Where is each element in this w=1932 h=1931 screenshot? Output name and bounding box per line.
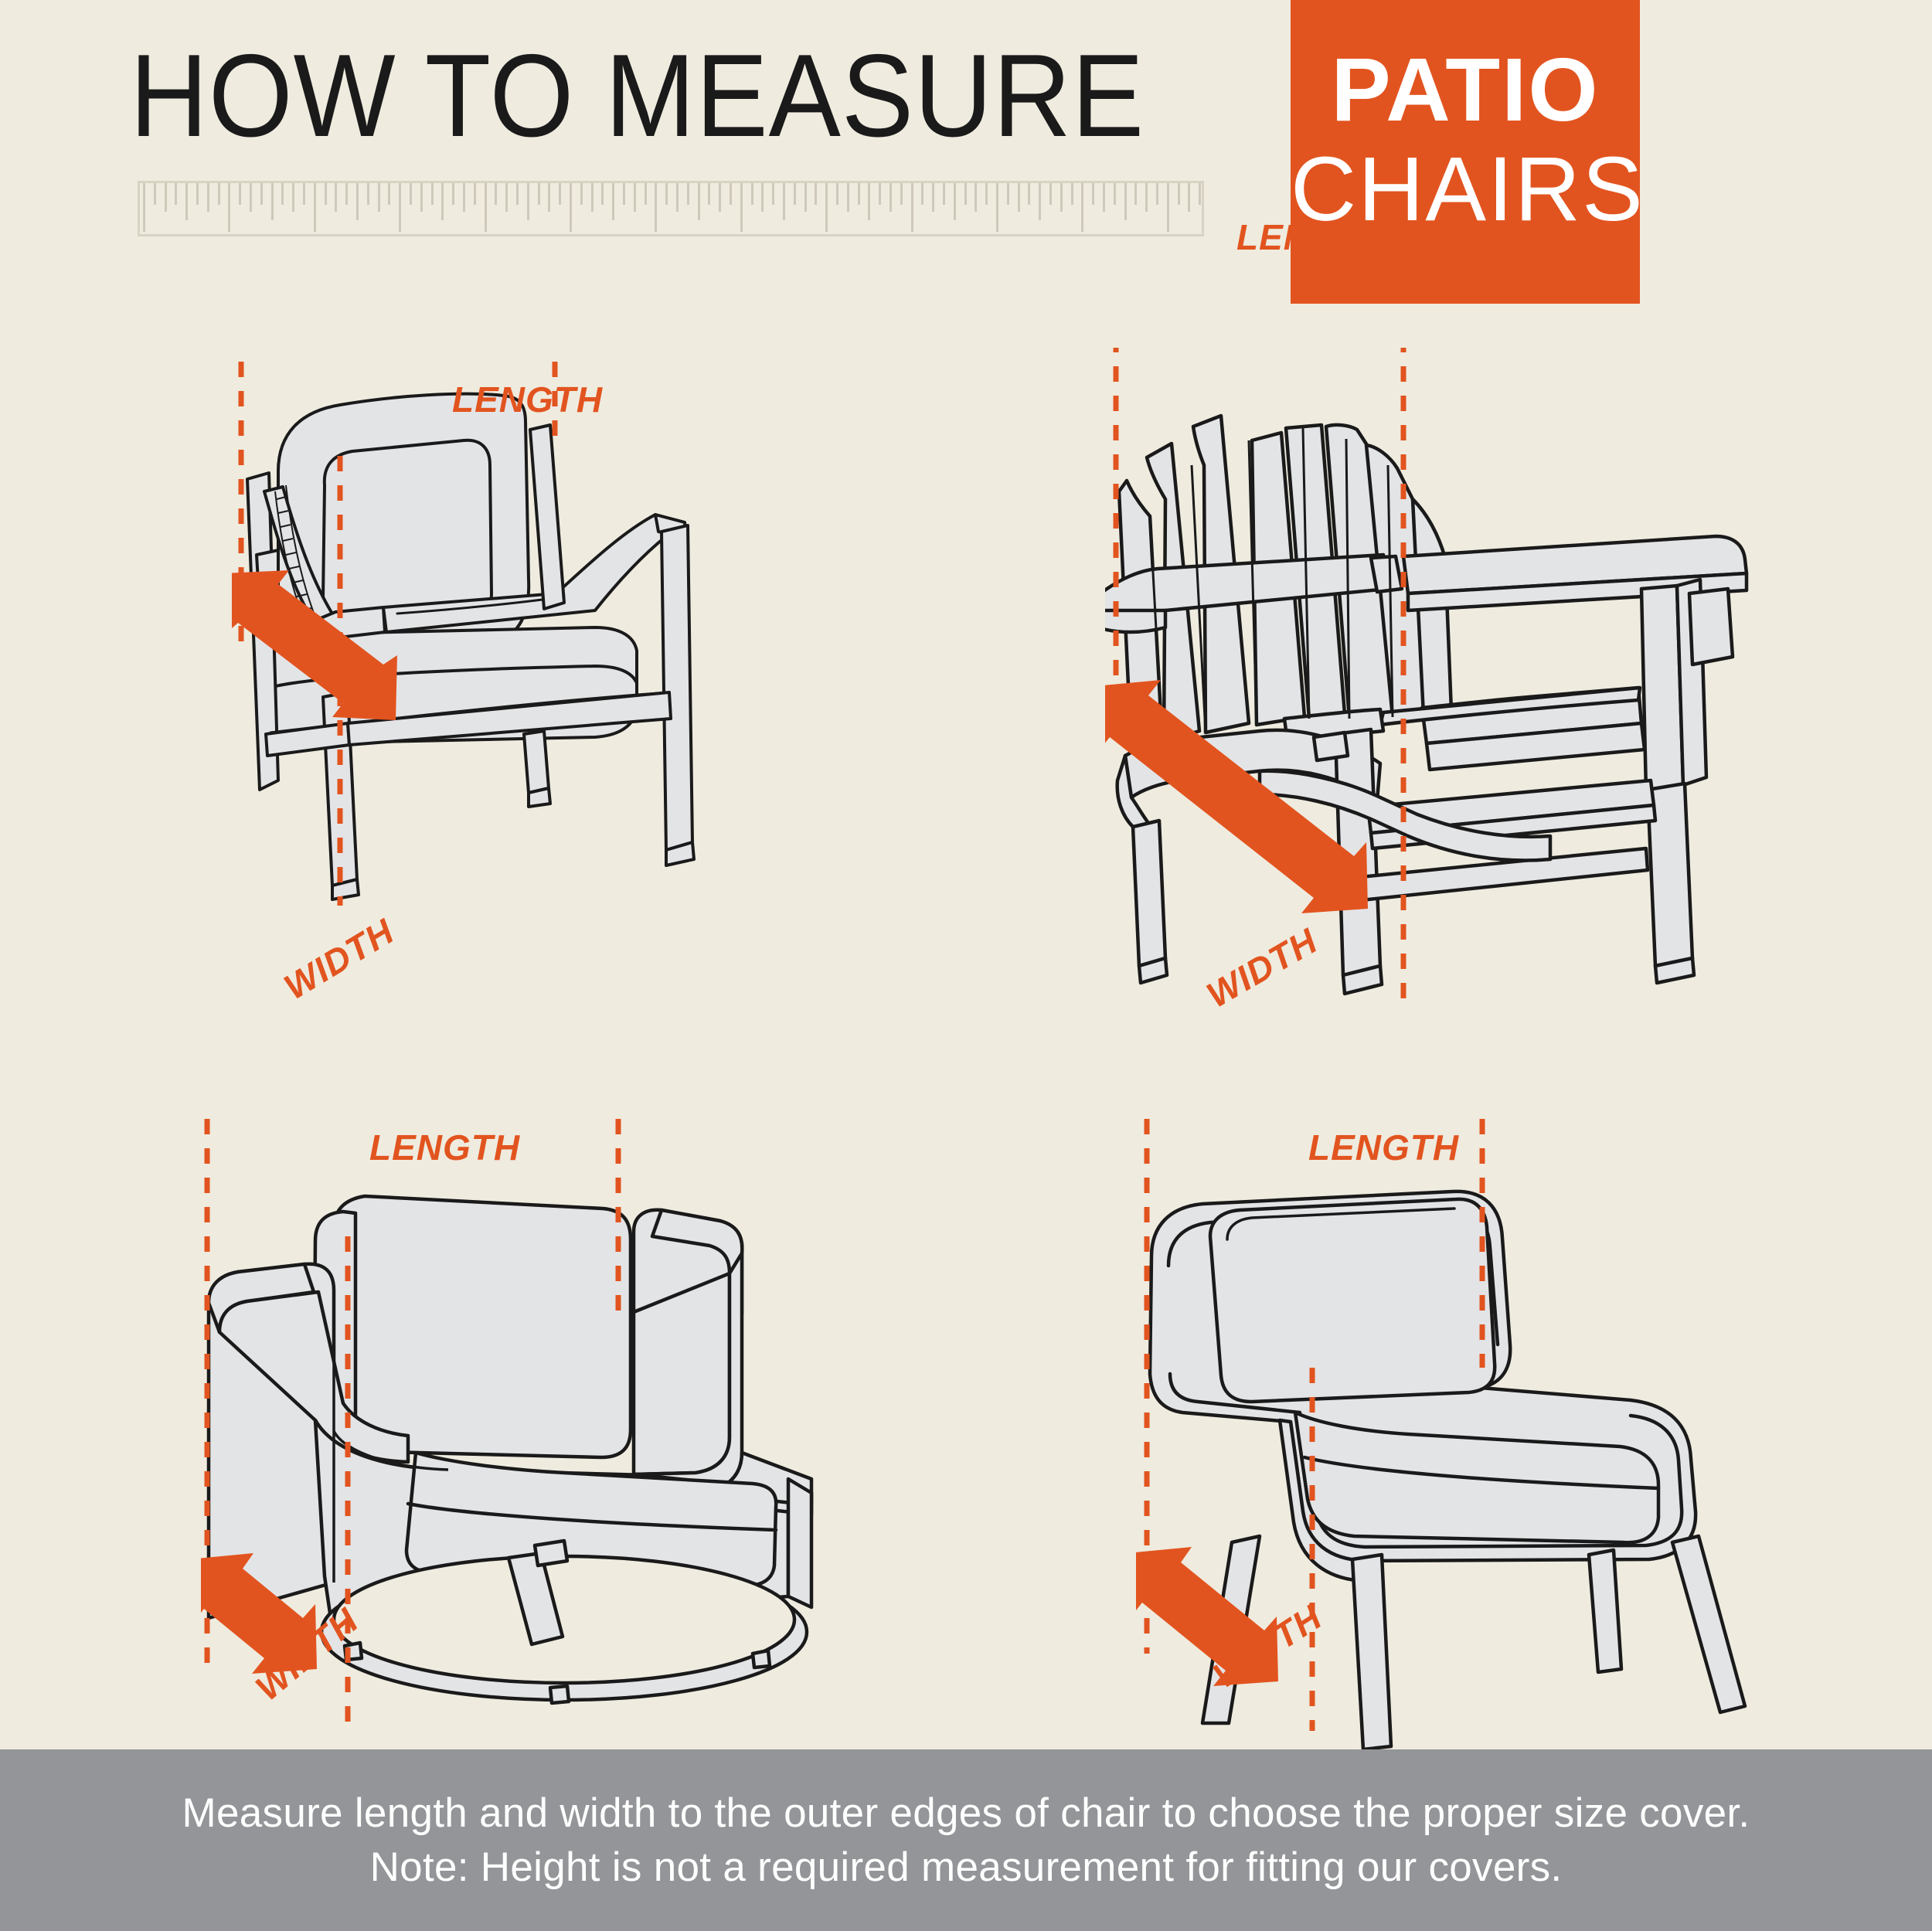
ruler-tick: [730, 183, 732, 205]
ruler-tick: [794, 183, 796, 205]
ruler-tick: [420, 183, 423, 212]
ruler-tick: [868, 183, 870, 220]
infographic-canvas: HOW TO MEASURE PATIO CHAIRS: [0, 0, 1932, 1931]
ruler-tick: [485, 183, 487, 232]
length-label-4: LENGTH: [1308, 1127, 1459, 1168]
ruler-tick: [1007, 183, 1009, 205]
footer-line-2: Note: Height is not a required measureme…: [0, 1841, 1932, 1895]
ruler-tick: [559, 183, 561, 205]
ruler-tick: [527, 183, 529, 220]
ruler-tick: [345, 183, 348, 205]
ruler-tick: [964, 183, 967, 205]
ruler-tick: [335, 183, 337, 212]
ruler-tick: [1156, 183, 1158, 205]
ruler-tick: [623, 183, 625, 205]
ruler-tick: [751, 183, 753, 205]
ruler-tick: [580, 183, 583, 205]
ruler-tick: [783, 183, 785, 220]
ruler-tick: [698, 183, 700, 220]
ruler-tick: [836, 183, 838, 205]
ruler-tick: [516, 183, 519, 205]
ruler-tick: [921, 183, 923, 205]
ruler-tick: [1092, 183, 1094, 205]
ruler-tick: [1049, 183, 1052, 205]
ruler-tick: [1178, 183, 1180, 205]
ruler-tick: [847, 183, 849, 212]
ruler-tick: [196, 183, 199, 205]
ruler-tick: [665, 183, 668, 205]
ruler-tick: [538, 183, 540, 205]
ruler-tick: [996, 183, 998, 232]
ruler-tick: [879, 183, 881, 205]
ruler-tick: [388, 183, 390, 205]
ruler-tick: [378, 183, 380, 212]
ruler-tick: [591, 183, 594, 212]
length-label-1: LENGTH: [452, 379, 603, 420]
ruler-tick: [165, 183, 167, 212]
width-arrow-1: [232, 570, 397, 720]
ruler-tick: [1134, 183, 1137, 205]
ruler-tick: [889, 183, 892, 212]
ruler-tick: [548, 183, 550, 212]
ruler-tick: [292, 183, 294, 212]
adirondack-measure-overlay: [1105, 348, 1893, 1043]
ruler-tick: [463, 183, 465, 212]
ruler-tick: [740, 183, 743, 232]
ruler-tick: [1145, 183, 1148, 212]
ruler-tick: [431, 183, 434, 205]
ruler-tick: [367, 183, 369, 205]
ruler-tick: [1124, 183, 1127, 220]
ruler-tick: [441, 183, 444, 220]
ruler-tick: [932, 183, 934, 212]
ruler-tick: [985, 183, 988, 205]
ruler-tick: [239, 183, 241, 205]
ruler-icon: [138, 181, 1204, 236]
ruler-tick: [1167, 183, 1169, 232]
ruler-tick: [570, 183, 572, 232]
ruler-tick: [356, 183, 359, 220]
ruler-tick: [1039, 183, 1041, 220]
ruler-tick: [676, 183, 679, 212]
ruler-tick: [1114, 183, 1116, 205]
width-arrow-2: [1105, 680, 1368, 913]
badge-line-patio: PATIO: [1291, 45, 1640, 134]
ruler-tick: [601, 183, 604, 205]
ruler-tick: [975, 183, 977, 212]
ruler-tick: [900, 183, 903, 205]
footer-bar: Measure length and width to the outer ed…: [0, 1749, 1932, 1931]
ruler-tick: [185, 183, 188, 220]
ruler-tick: [143, 183, 145, 232]
ruler-tick: [281, 183, 284, 205]
ruler-tick: [911, 183, 913, 232]
ruler-tick: [218, 183, 220, 205]
ruler-tick: [612, 183, 614, 220]
ruler-tick: [1188, 183, 1190, 212]
ruler-tick: [943, 183, 945, 205]
ruler-tick: [655, 183, 657, 232]
ruler-tick: [825, 183, 828, 232]
ruler-tick: [772, 183, 774, 205]
ruler-tick: [410, 183, 412, 205]
ruler-tick: [858, 183, 860, 205]
ruler-tick: [228, 183, 230, 232]
ruler-tick: [645, 183, 647, 205]
ruler-tick: [954, 183, 956, 220]
ruler-tick: [175, 183, 177, 205]
deep-seating-measure-overlay: [232, 348, 788, 1043]
ruler-tick: [1103, 183, 1105, 212]
page-title: HOW TO MEASURE: [130, 37, 1145, 155]
ruler-tick: [815, 183, 817, 205]
ruler-tick: [719, 183, 721, 212]
ruler-tick: [1018, 183, 1020, 212]
ruler-tick: [708, 183, 710, 205]
ruler-tick: [495, 183, 497, 205]
ruler-tick: [1028, 183, 1030, 205]
ruler-tick: [325, 183, 327, 205]
ruler-tick: [1071, 183, 1073, 205]
ruler-tick: [1081, 183, 1083, 232]
ruler-tick: [250, 183, 252, 212]
ruler-tick: [452, 183, 454, 205]
ruler-tick: [474, 183, 476, 205]
ruler-tick: [761, 183, 764, 212]
ruler-tick: [1199, 183, 1201, 205]
ruler-tick: [303, 183, 305, 205]
category-badge: PATIO CHAIRS: [1291, 0, 1640, 304]
ruler-tick: [271, 183, 274, 220]
ruler-tick: [804, 183, 807, 212]
ruler-tick: [207, 183, 209, 212]
ruler-tick: [260, 183, 263, 205]
footer-line-1: Measure length and width to the outer ed…: [0, 1787, 1932, 1841]
ruler-tick: [154, 183, 156, 205]
length-label-2: LENGTH: [1236, 216, 1387, 258]
ruler-tick: [314, 183, 316, 232]
ruler-tick: [399, 183, 401, 232]
length-label-3: LENGTH: [369, 1127, 520, 1168]
ruler-tick: [634, 183, 636, 212]
ruler-tick: [1060, 183, 1063, 212]
ruler-tick: [505, 183, 508, 212]
ruler-tick: [687, 183, 689, 205]
